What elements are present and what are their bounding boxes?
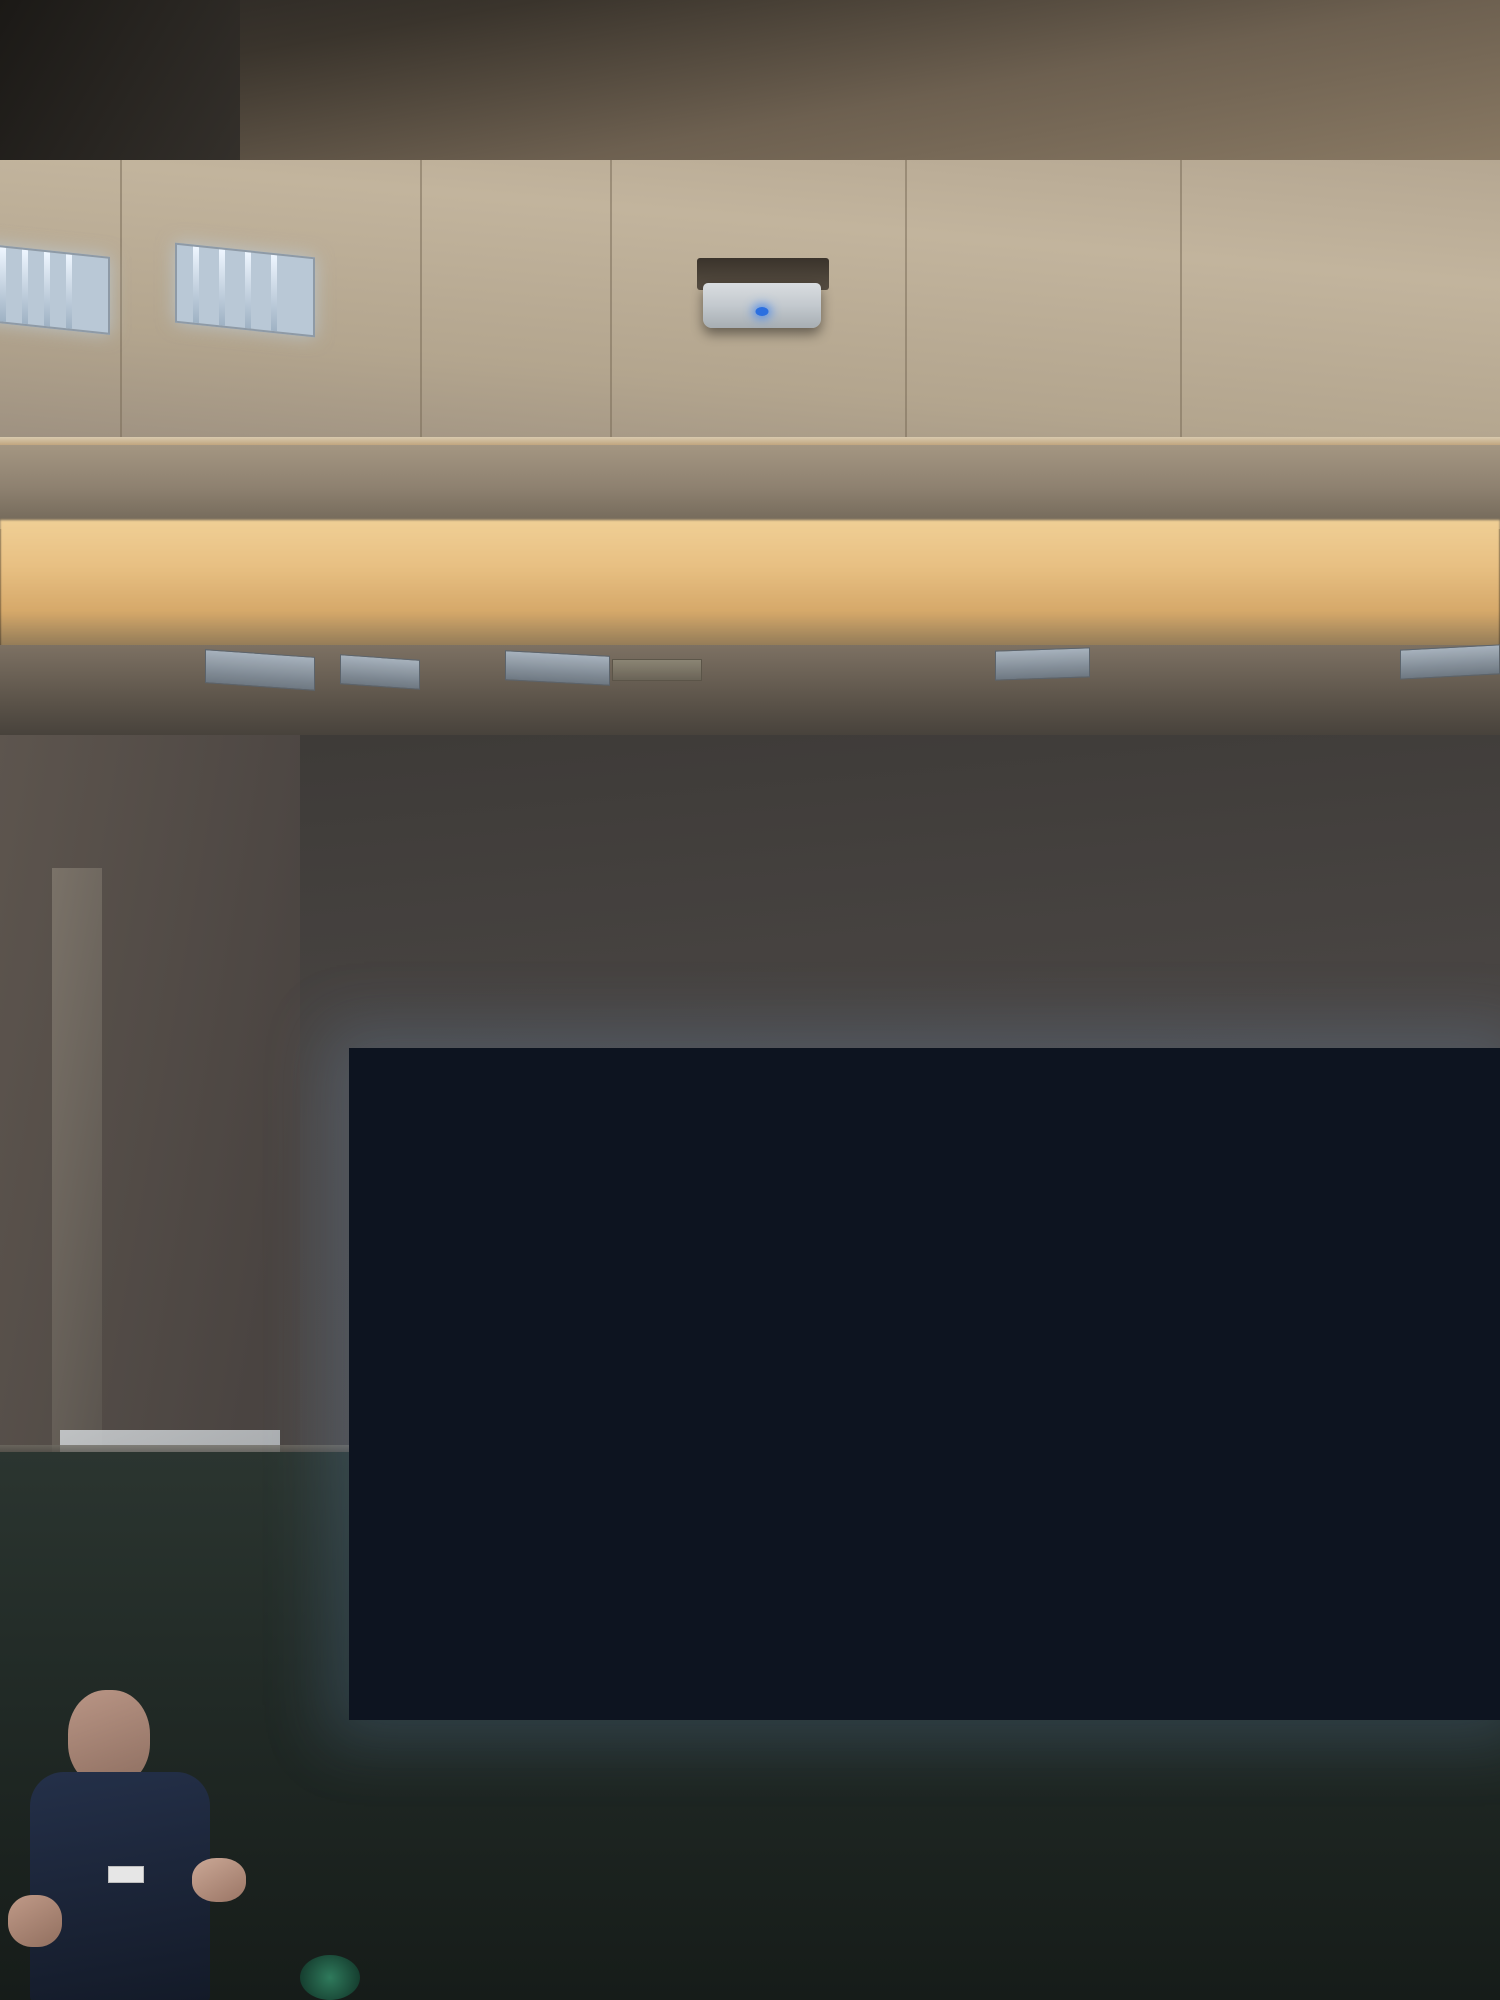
ceiling-lower-band (0, 645, 1500, 740)
projector-power-led (756, 307, 769, 316)
ceiling-upper (0, 0, 1500, 168)
desk-object (300, 1955, 360, 2000)
ceiling-projector (703, 283, 821, 328)
wall-pillar (52, 868, 102, 1468)
presenter (10, 1690, 220, 2000)
cove-edge (0, 437, 1500, 445)
lecture-room-scene: 1. Trismegistos- Scope- History- Interna… (0, 0, 1500, 2000)
ceiling-soffit (0, 437, 1500, 529)
presenter-torso (30, 1772, 210, 2000)
ceiling-light-fixture (175, 243, 315, 338)
presenter-left-hand (8, 1895, 62, 1947)
presenter-name-badge (108, 1866, 144, 1883)
cove-light-glow (0, 520, 1500, 650)
projection-screen: 1. Trismegistos- Scope- History- Interna… (349, 1048, 1500, 1720)
ceiling-light-fixture (0, 243, 110, 335)
presenter-right-hand (192, 1858, 246, 1902)
